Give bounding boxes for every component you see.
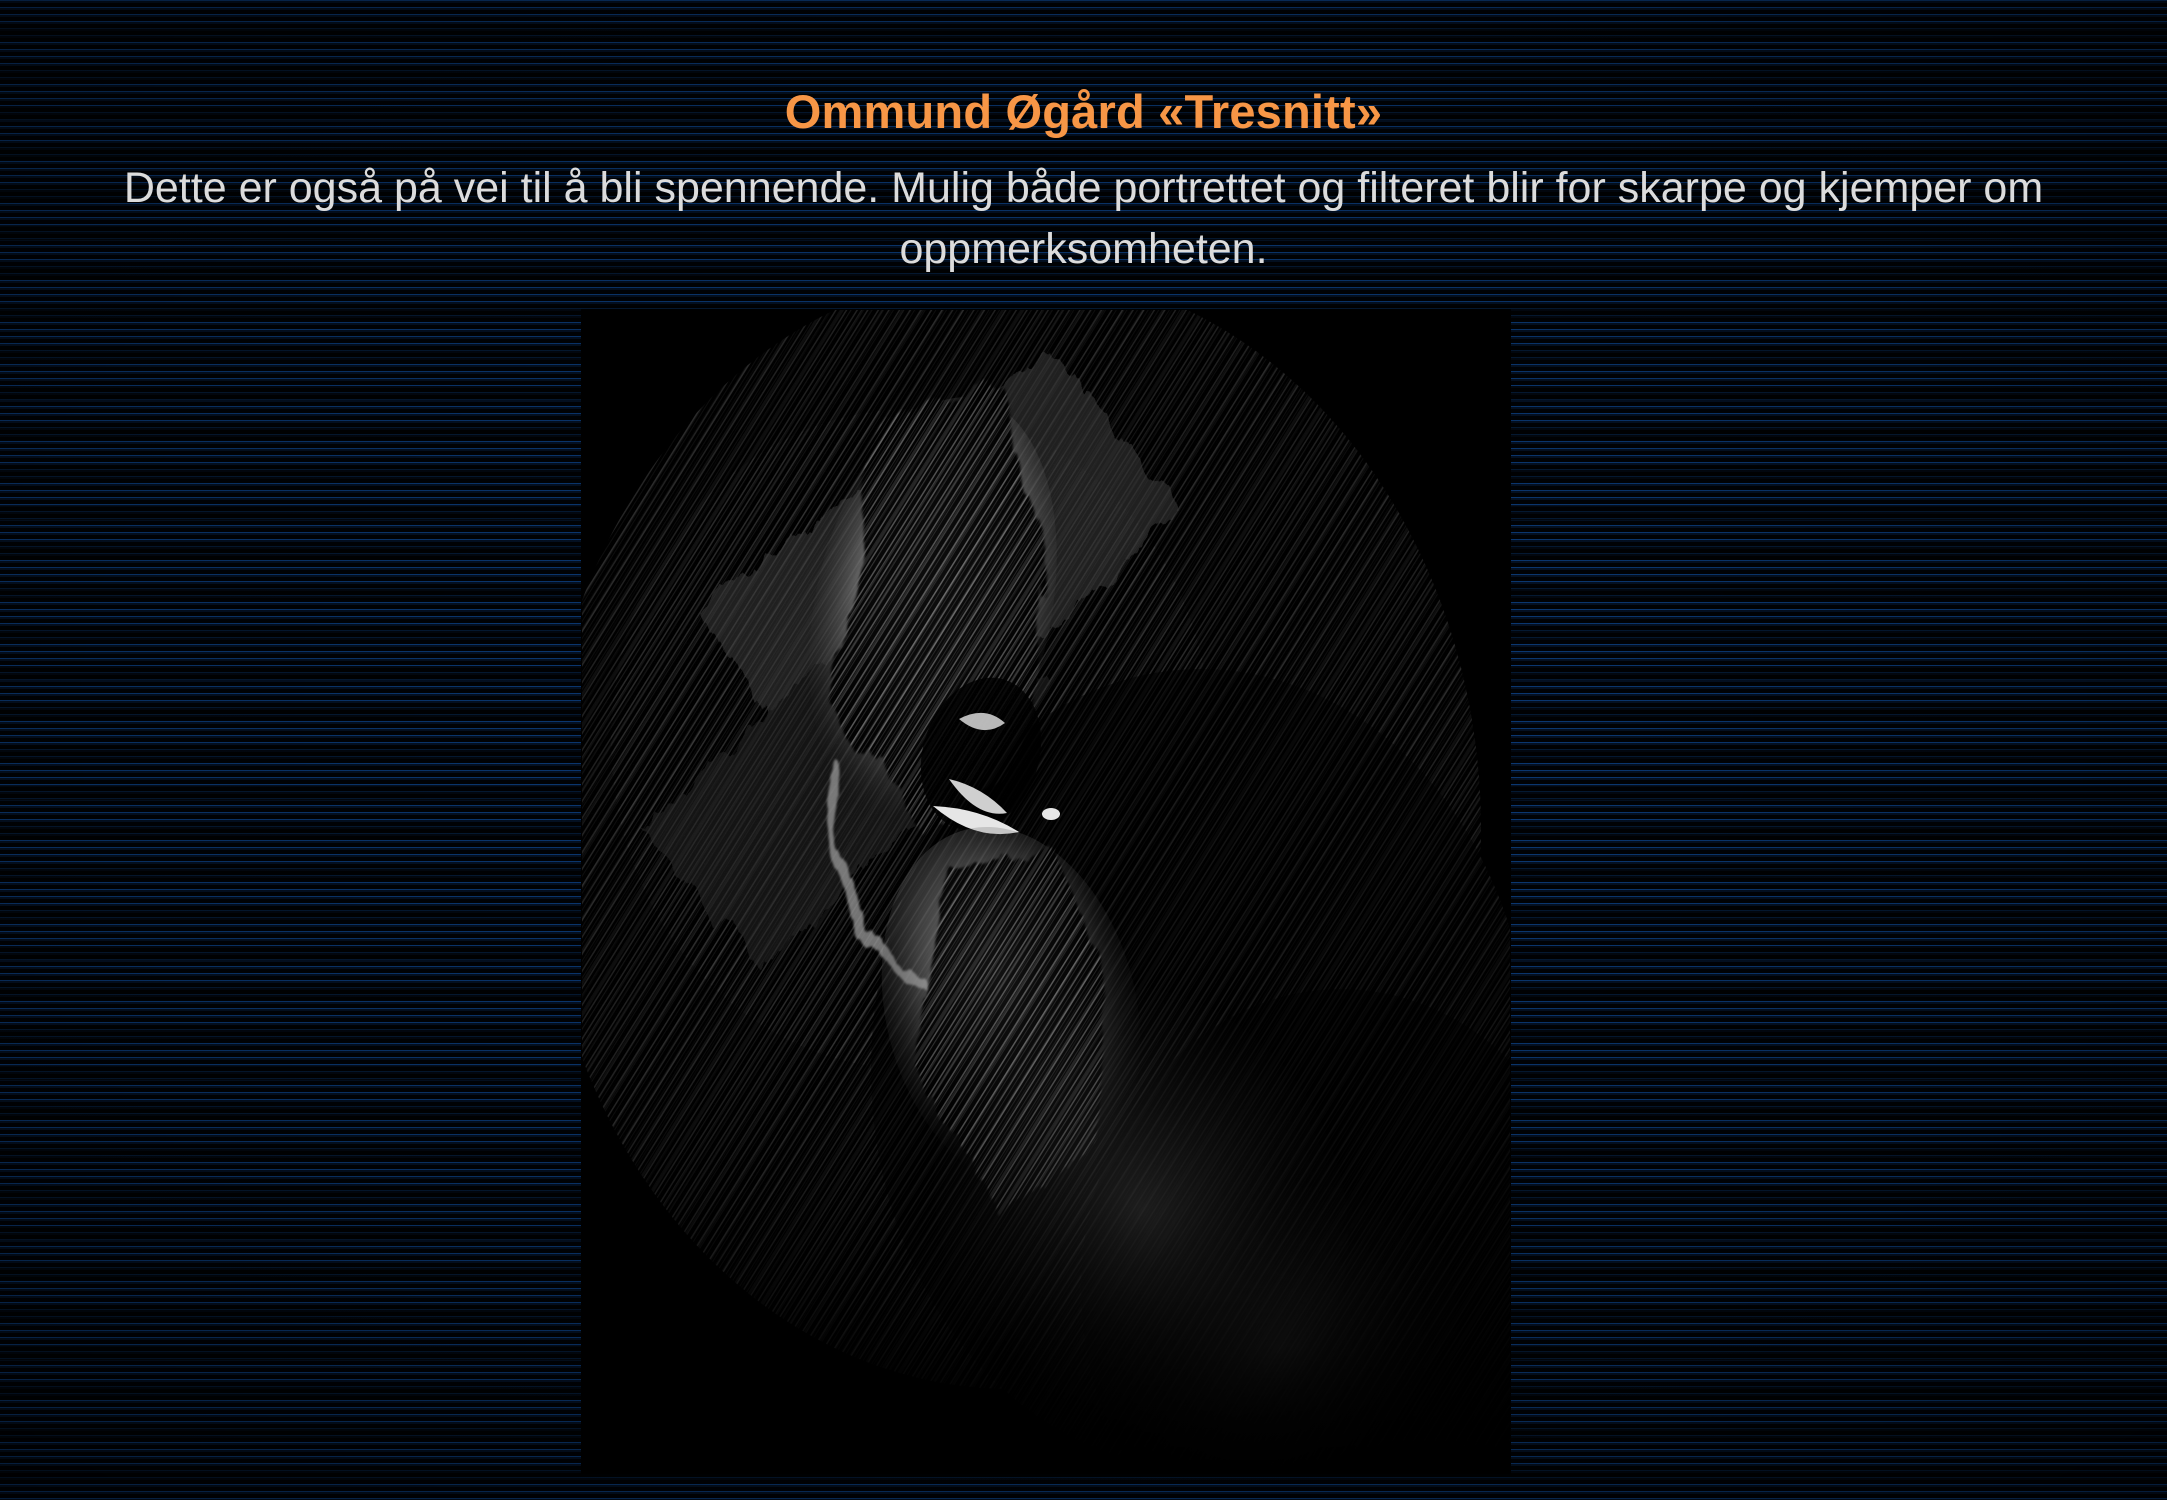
- subtitle-line-1: Dette er også på vei til å bli spennende…: [124, 164, 1807, 212]
- artwork-image: [581, 309, 1511, 1474]
- woodcut-artwork-canvas: [581, 309, 1511, 1474]
- artwork-bottom-fade: [581, 1069, 1511, 1474]
- page-title: Ommund Øgård «Tresnitt»: [0, 88, 2167, 135]
- slide-subtitle: Dette er også på vei til å bli spennende…: [108, 158, 2059, 280]
- presentation-slide: Ommund Øgård «Tresnitt» Dette er også på…: [0, 0, 2167, 1500]
